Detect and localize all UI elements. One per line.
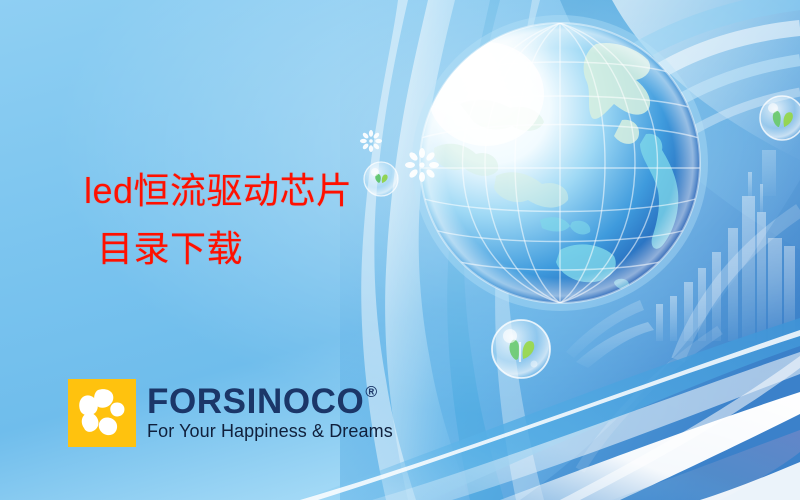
registered-trademark-icon: ® (365, 385, 377, 401)
headline-text: led恒流驱动芯片 目录下载 (84, 162, 353, 279)
promo-banner: led恒流驱动芯片 目录下载 FORSINOCO® For Your Happi… (0, 0, 800, 500)
world-globe-graphic (400, 8, 720, 328)
bubble-plant-medium-icon (490, 318, 552, 380)
brand-logo: FORSINOCO® For Your Happiness & Dreams (68, 379, 393, 447)
flower-sparkle-large-icon (405, 148, 439, 182)
logo-pinwheel-icon (68, 379, 136, 447)
logo-wordmark: FORSINOCO® (147, 384, 378, 419)
headline-line-1: led恒流驱动芯片 (84, 162, 353, 220)
continents (434, 36, 678, 290)
swoosh-group (361, 0, 800, 500)
bubble-plant-small-icon (363, 161, 399, 197)
right-wedge (520, 180, 800, 500)
logo-tagline: For Your Happiness & Dreams (147, 422, 393, 442)
flower-sparkle-small-icon (360, 130, 382, 152)
logo-text-block: FORSINOCO® For Your Happiness & Dreams (147, 384, 393, 442)
bubble-plant-edge-icon (758, 94, 800, 142)
arc-group (548, 0, 800, 470)
logo-name-text: FORSINOCO (147, 384, 364, 419)
headline-line-2: 目录下载 (84, 220, 353, 278)
city-skyline-graphic (566, 150, 795, 368)
